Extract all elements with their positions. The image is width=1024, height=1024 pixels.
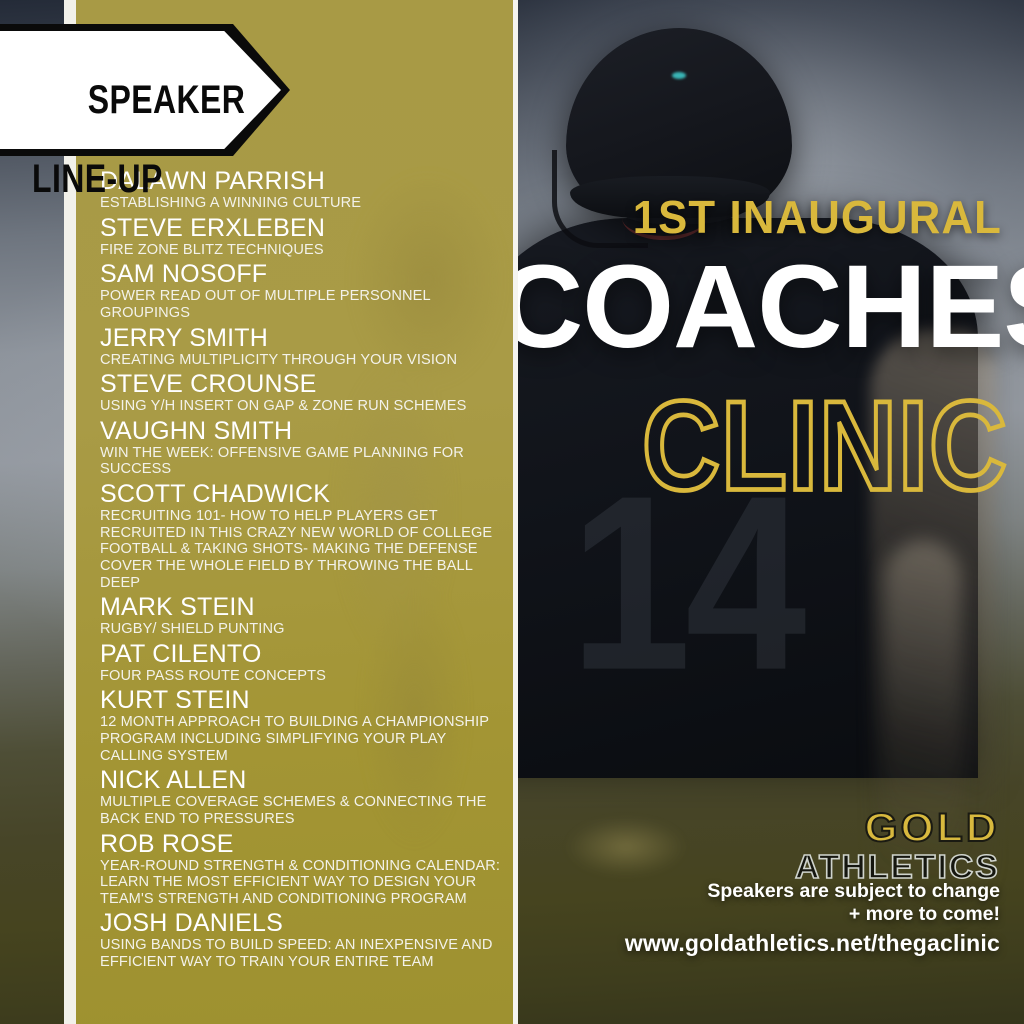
speaker-topic: USING BANDS TO BUILD SPEED: AN INEXPENSI… [100,937,502,970]
speaker-name: NICK ALLEN [100,767,502,793]
speaker-entry: MARK STEINRUGBY/ SHIELD PUNTING [100,594,502,638]
gold-panel-right-divider [513,0,518,1024]
speaker-name: VAUGHN SMITH [100,418,502,444]
disclaimer-note: Speakers are subject to change + more to… [707,880,1000,927]
speaker-name: PAT CILENTO [100,641,502,667]
speaker-topic: CREATING MULTIPLICITY THROUGH YOUR VISIO… [100,352,502,369]
speaker-topic: RECRUITING 101- HOW TO HELP PLAYERS GET … [100,508,502,591]
poster-canvas: 14 1ST INAUGURAL COACHES CLINIC GOLD ATH… [0,0,1024,1024]
disclaimer-line-1: Speakers are subject to change [707,880,1000,903]
hero-photo-panel: 14 1ST INAUGURAL COACHES CLINIC GOLD ATH… [518,0,1024,1024]
speaker-name: JOSH DANIELS [100,910,502,936]
speaker-entry: JERRY SMITHCREATING MULTIPLICITY THROUGH… [100,325,502,369]
speaker-name: KURT STEIN [100,687,502,713]
speaker-topic: YEAR-ROUND STRENGTH & CONDITIONING CALEN… [100,858,502,908]
banner-label: SPEAKER LINE-UP [32,42,245,277]
speaker-name: MARK STEIN [100,594,502,620]
speaker-name: ROB ROSE [100,831,502,857]
headline-clinic: CLINIC [518,382,1008,509]
speaker-topic: RUGBY/ SHIELD PUNTING [100,621,502,638]
speaker-entry: VAUGHN SMITHWIN THE WEEK: OFFENSIVE GAME… [100,418,502,478]
speaker-entry: STEVE CROUNSEUSING Y/H INSERT ON GAP & Z… [100,371,502,415]
logo-word-gold: GOLD [787,808,1000,848]
speaker-lineup-banner: SPEAKER LINE-UP [0,24,290,156]
speaker-name: SCOTT CHADWICK [100,481,502,507]
speaker-entry: PAT CILENTOFOUR PASS ROUTE CONCEPTS [100,641,502,685]
headline-kicker: 1ST INAUGURAL [542,190,1002,244]
speaker-topic: WIN THE WEEK: OFFENSIVE GAME PLANNING FO… [100,445,502,478]
disclaimer-line-2: + more to come! [707,903,1000,926]
speaker-entry: JOSH DANIELSUSING BANDS TO BUILD SPEED: … [100,910,502,970]
headline-coaches: COACHES [518,248,1006,366]
speaker-name: STEVE CROUNSE [100,371,502,397]
speaker-topic: 12 MONTH APPROACH TO BUILDING A CHAMPION… [100,714,502,764]
speaker-entry: NICK ALLENMULTIPLE COVERAGE SCHEMES & CO… [100,767,502,827]
speaker-entry: SCOTT CHADWICKRECRUITING 101- HOW TO HEL… [100,481,502,591]
speaker-topic: FOUR PASS ROUTE CONCEPTS [100,668,502,685]
speaker-list: DALAWN PARRISHESTABLISHING A WINNING CUL… [100,168,502,974]
website-url[interactable]: www.goldathletics.net/thegaclinic [625,930,1000,957]
speaker-entry: ROB ROSEYEAR-ROUND STRENGTH & CONDITIONI… [100,831,502,908]
speaker-entry: KURT STEIN12 MONTH APPROACH TO BUILDING … [100,687,502,764]
speaker-name: JERRY SMITH [100,325,502,351]
banner-label-line-1: SPEAKER [88,78,246,122]
speaker-topic: MULTIPLE COVERAGE SCHEMES & CONNECTING T… [100,794,502,827]
banner-label-line-2: LINE-UP [32,160,245,199]
speaker-topic: POWER READ OUT OF MULTIPLE PERSONNEL GRO… [100,288,502,321]
gold-athletics-logo: GOLD ATHLETICS [799,808,1000,885]
speaker-topic: USING Y/H INSERT ON GAP & ZONE RUN SCHEM… [100,398,502,415]
